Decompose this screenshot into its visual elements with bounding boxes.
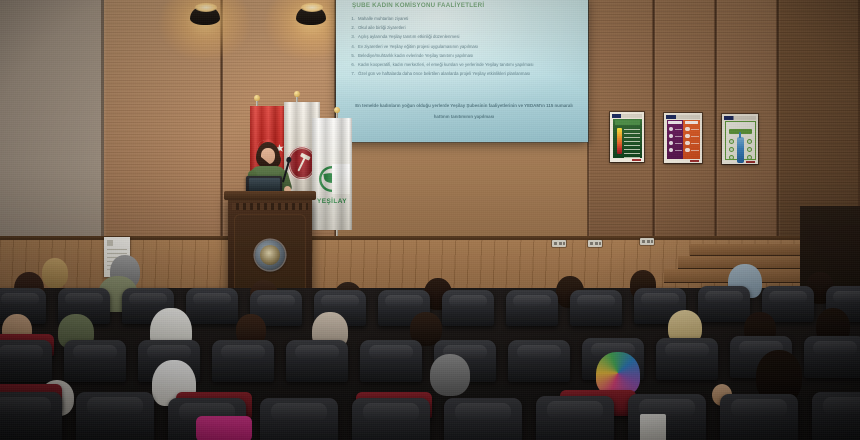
list-text: Ev ziyaretleri ve Yeşilay eğitim projesi… — [358, 42, 478, 51]
list-item: 5. Belediye/muhtarlık kadın evlerinde Ye… — [348, 51, 582, 60]
notice-logo-icon — [107, 240, 113, 246]
list-number: 2. — [348, 23, 355, 32]
auditorium-seat[interactable] — [508, 340, 570, 382]
slide-title: ŞUBE KADIN KOMİSYONU FAALİYETLERİ — [352, 2, 580, 9]
auditorium-seat[interactable] — [442, 290, 494, 326]
flagpole-finial — [254, 95, 259, 101]
poster-panel-spor — [667, 120, 684, 160]
poster-icon — [669, 148, 674, 153]
conference-hall-photo: ŞUBE KADIN KOMİSYONU FAALİYETLERİ 1. Mah… — [0, 0, 860, 440]
audience-bag — [640, 414, 666, 440]
list-number: 5. — [348, 51, 355, 60]
slide-footer: En temelde kadınların yoğun olduğu yerle… — [350, 100, 578, 122]
wall-power-socket — [640, 238, 654, 245]
sconce-bulb — [195, 3, 217, 12]
auditorium-seat[interactable] — [536, 396, 614, 440]
laptop-screen — [249, 178, 280, 191]
list-item: 6. Kadın kooperatifi, kadın merkezleri, … — [348, 60, 582, 69]
poster-headline — [685, 121, 699, 124]
poster-icon — [747, 139, 752, 144]
bottle-icon — [737, 137, 744, 163]
auditorium-seat[interactable] — [720, 394, 798, 440]
auditorium-seat[interactable] — [352, 398, 430, 440]
sconce-bulb — [301, 3, 323, 12]
auditorium-seat[interactable] — [444, 398, 522, 440]
poster-footer-mark — [632, 159, 641, 162]
person-head — [430, 354, 470, 396]
auditorium-seat[interactable] — [570, 290, 622, 326]
poster-body — [667, 120, 700, 160]
poster-row — [675, 129, 683, 130]
slide-footer-line-2: hattının tanıtımının yapılması — [350, 111, 578, 122]
yesilay-flag: YEŞİLAY — [312, 118, 352, 230]
slide-bullet-list: 1. Mahalle muhtarları ziyareti 2. Okul a… — [348, 14, 582, 78]
podium-top-surface — [224, 191, 316, 200]
poster-row — [624, 141, 640, 142]
poster-row — [624, 145, 640, 146]
poster-row — [675, 150, 683, 151]
flagpole-finial — [334, 107, 339, 113]
poster-icon — [729, 139, 734, 144]
auditorium-seat[interactable] — [286, 340, 348, 382]
list-text: Mahalle muhtarları ziyareti — [358, 14, 408, 23]
poster-icon — [747, 155, 752, 160]
list-item: 7. Özel gün ve haftalarda daha önce beli… — [348, 69, 582, 78]
auditorium-seat[interactable] — [212, 340, 274, 382]
poster-row — [624, 137, 640, 138]
poster-icon — [685, 134, 690, 139]
auditorium-seat[interactable] — [506, 290, 558, 326]
poster-body — [725, 121, 756, 161]
auditorium-seat[interactable] — [656, 338, 718, 380]
poster-nutrition-scale — [610, 112, 644, 162]
poster-icon — [729, 147, 734, 152]
poster-row — [624, 149, 640, 150]
wall-sconce-light — [182, 2, 228, 28]
auditorium-seat[interactable] — [0, 392, 62, 440]
auditorium-seat[interactable] — [64, 340, 126, 382]
list-text: Kadın kooperatifi, kadın merkezleri, el … — [358, 60, 534, 69]
poster-footer-mark — [746, 161, 755, 164]
list-text: Açılış aylarında Yeşilay tanıtım etkinli… — [358, 32, 460, 41]
wall-power-socket — [552, 240, 566, 247]
poster-icon — [729, 155, 734, 160]
poster-icon — [669, 141, 674, 146]
poster-row — [624, 129, 640, 130]
list-number: 1. — [348, 14, 355, 23]
flagpole-finial — [294, 91, 299, 97]
poster-caption-band — [615, 120, 640, 125]
list-text: Okul aile birliği ziyaretleri — [358, 23, 406, 32]
list-text: Özel gün ve haftalarda daha önce belirti… — [358, 69, 530, 78]
yesilay-crescent-logo-icon — [319, 166, 345, 192]
auditorium-seat[interactable] — [812, 392, 860, 440]
auditorium-seat[interactable] — [804, 336, 860, 378]
person-head — [42, 258, 68, 288]
auditorium-seating-area — [0, 288, 860, 440]
institutional-seal-icon — [255, 240, 285, 270]
poster-row — [691, 150, 699, 151]
poster-icon — [685, 127, 690, 132]
leaf-shape — [323, 172, 337, 184]
poster-row — [624, 133, 640, 134]
slide-footer-line-1: En temelde kadınların yoğun olduğu yerle… — [350, 100, 578, 111]
poster-body — [613, 119, 642, 159]
poster-row — [691, 136, 699, 137]
poster-panel-uyku — [683, 120, 700, 160]
wall-sconce-light — [288, 2, 334, 28]
poster-header-band — [612, 114, 642, 118]
auditorium-seat[interactable] — [360, 340, 422, 382]
poster-icon — [747, 147, 752, 152]
poster-row — [675, 143, 683, 144]
list-number: 6. — [348, 60, 355, 69]
poster-icon — [685, 148, 690, 153]
poster-row — [691, 129, 699, 130]
list-number: 3. — [348, 32, 355, 41]
wall-power-socket — [588, 240, 602, 247]
auditorium-seat[interactable] — [186, 288, 238, 324]
audience-garment — [196, 416, 252, 440]
auditorium-seat[interactable] — [698, 286, 750, 322]
yesilay-flag-label: YEŞİLAY — [312, 198, 352, 205]
poster-footer-mark — [690, 160, 699, 163]
podium-frieze-trim — [232, 203, 308, 210]
poster-header-band — [724, 116, 756, 120]
list-item: 3. Açılış aylarında Yeşilay tanıtım etki… — [348, 32, 582, 41]
projection-screen: ŞUBE KADIN KOMİSYONU FAALİYETLERİ 1. Mah… — [336, 0, 588, 142]
poster-alcohol-bottle — [722, 114, 758, 164]
poster-icon — [685, 141, 690, 146]
poster-icon — [669, 134, 674, 139]
poster-row — [675, 136, 683, 137]
poster-row — [624, 153, 640, 154]
auditorium-seat[interactable] — [0, 340, 52, 382]
poster-icon — [669, 127, 674, 132]
poster-spor-uyku — [664, 113, 702, 163]
list-number: 4. — [348, 42, 355, 51]
patterned-headscarf — [596, 352, 640, 394]
list-item: 2. Okul aile birliği ziyaretleri — [348, 23, 582, 32]
list-number: 7. — [348, 69, 355, 78]
list-item: 1. Mahalle muhtarları ziyareti — [348, 14, 582, 23]
poster-header-band — [666, 115, 700, 119]
auditorium-seat[interactable] — [76, 392, 154, 440]
poster-headline — [668, 121, 682, 124]
auditorium-seat[interactable] — [260, 398, 338, 440]
list-text: Belediye/muhtarlık kadın evlerinde Yeşil… — [358, 51, 473, 60]
list-item: 4. Ev ziyaretleri ve Yeşilay eğitim proj… — [348, 42, 582, 51]
poster-row — [691, 143, 699, 144]
poster-color-scale — [617, 128, 622, 155]
